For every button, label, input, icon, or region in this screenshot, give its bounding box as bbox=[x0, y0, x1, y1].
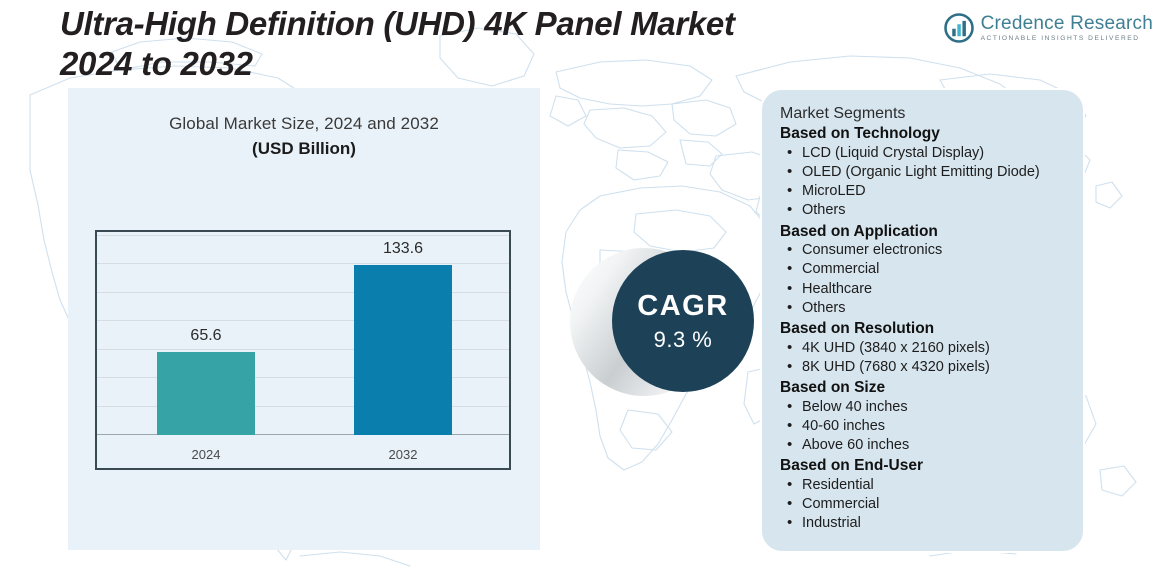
cagr-label: CAGR bbox=[637, 292, 728, 321]
market-segments-panel: Market Segments Based on TechnologyLCD (… bbox=[760, 88, 1085, 553]
segment-item: 40-60 inches bbox=[780, 417, 1067, 436]
brand-logo: Credence Research Actionable Insights De… bbox=[944, 8, 1153, 48]
segment-item: Others bbox=[780, 299, 1067, 318]
segment-group-title: Based on Resolution bbox=[780, 319, 1067, 338]
chart-heading-line1: Global Market Size, 2024 and 2032 bbox=[68, 114, 540, 134]
cagr-circle: CAGR 9.3 % bbox=[612, 250, 754, 392]
segment-item: Above 60 inches bbox=[780, 436, 1067, 455]
credence-logo-icon bbox=[944, 13, 974, 43]
segment-item: MicroLED bbox=[780, 182, 1067, 201]
segment-item: Consumer electronics bbox=[780, 241, 1067, 260]
segment-item: Industrial bbox=[780, 514, 1067, 533]
cagr-value: 9.3 % bbox=[654, 329, 713, 351]
segment-group-title: Based on Application bbox=[780, 222, 1067, 241]
segment-item: 8K UHD (7680 x 4320 pixels) bbox=[780, 358, 1067, 377]
bar-value-label: 133.6 bbox=[354, 240, 452, 258]
segment-item: Others bbox=[780, 201, 1067, 220]
logo-tagline: Actionable Insights Delivered bbox=[981, 35, 1153, 42]
chart-heading: Global Market Size, 2024 and 2032 (USD B… bbox=[68, 114, 540, 159]
chart-heading-line2: (USD Billion) bbox=[68, 139, 540, 159]
segment-item: OLED (Organic Light Emitting Diode) bbox=[780, 163, 1067, 182]
bar-2024 bbox=[157, 352, 255, 435]
segment-item: Commercial bbox=[780, 495, 1067, 514]
bar-group: 65.62024 bbox=[157, 352, 255, 435]
segment-item: Residential bbox=[780, 476, 1067, 495]
segment-item: 4K UHD (3840 x 2160 pixels) bbox=[780, 339, 1067, 358]
segments-title: Market Segments bbox=[780, 104, 1067, 123]
segment-item: Below 40 inches bbox=[780, 398, 1067, 417]
segment-group-title: Based on Size bbox=[780, 378, 1067, 397]
bar-2032 bbox=[354, 265, 452, 435]
page-title: Ultra-High Definition (UHD) 4K Panel Mar… bbox=[60, 4, 880, 85]
segment-group-title: Based on Technology bbox=[780, 124, 1067, 143]
cagr-badge: CAGR 9.3 % bbox=[570, 248, 780, 398]
segment-item: LCD (Liquid Crystal Display) bbox=[780, 144, 1067, 163]
segments-list: Based on TechnologyLCD (Liquid Crystal D… bbox=[780, 124, 1067, 533]
bar-group: 133.62032 bbox=[354, 265, 452, 435]
segment-item: Commercial bbox=[780, 260, 1067, 279]
segment-group-title: Based on End-User bbox=[780, 456, 1067, 475]
bar-category-label: 2024 bbox=[139, 447, 273, 462]
chart-plot-area: 65.62024133.62032 bbox=[97, 232, 509, 468]
bar-value-label: 65.6 bbox=[157, 327, 255, 345]
bar-category-label: 2032 bbox=[336, 447, 470, 462]
segment-item: Healthcare bbox=[780, 280, 1067, 299]
bar-chart: 65.62024133.62032 bbox=[95, 230, 511, 470]
logo-name: Credence Research bbox=[981, 14, 1153, 34]
